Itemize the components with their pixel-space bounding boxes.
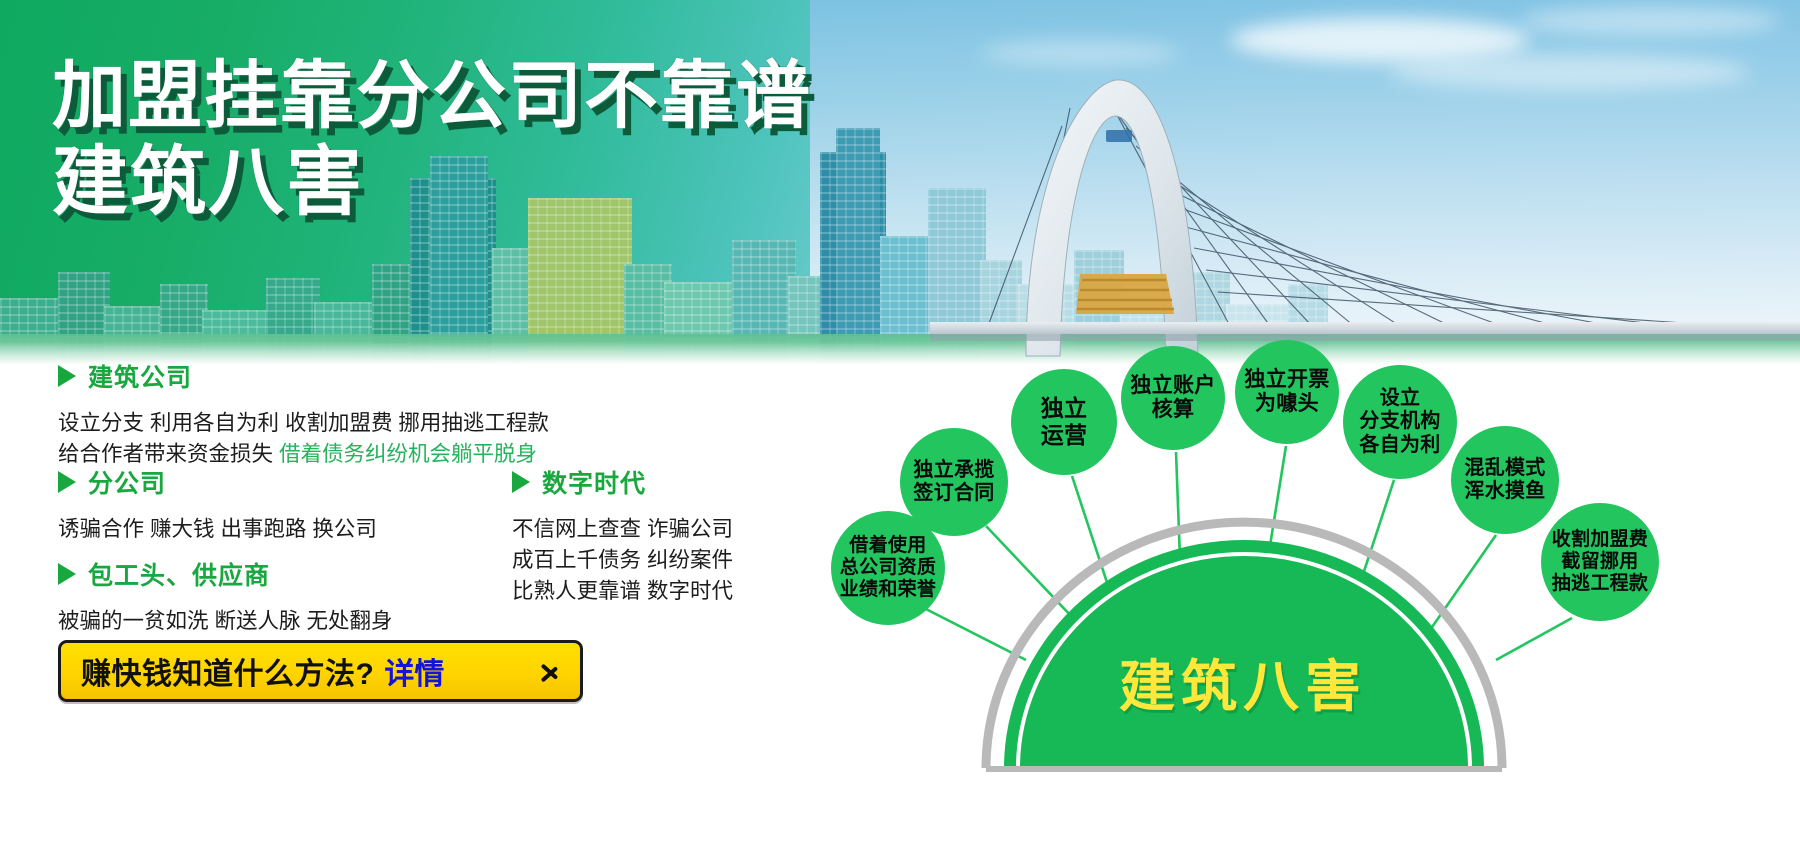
bubble-label: 设立分支机构各自为利: [1359, 387, 1440, 457]
bubble-item[interactable]: 独立运营: [1011, 369, 1117, 475]
section-digital-era: 数字时代 不信网上查查 诈骗公司 成百上千债务 纠纷案件 比熟人更靠谱 数字时代: [512, 464, 733, 608]
bubble-label: 独立账户核算: [1130, 374, 1215, 423]
bubble-item[interactable]: 独立账户核算: [1121, 346, 1225, 450]
bubble-label-line: 核算: [1130, 398, 1215, 422]
bubble-label-line: 独立: [1041, 395, 1088, 422]
bubble-item[interactable]: 混乱模式浑水摸鱼: [1451, 426, 1559, 534]
cta-button[interactable]: 赚快钱知道什么方法? 详情: [58, 640, 583, 702]
bubble-label-line: 独立承揽: [913, 459, 994, 482]
section-line: 不信网上查查 诈骗公司: [512, 514, 733, 545]
cloud-decor: [980, 40, 1180, 66]
bubble-label: 混乱模式浑水摸鱼: [1464, 457, 1545, 503]
bubble-label-line: 运营: [1041, 422, 1088, 449]
bubble-label-line: 分支机构: [1359, 410, 1440, 433]
hero-title: 加盟挂靠分公司不靠谱 建筑八害: [52, 58, 812, 222]
section-header: 建筑公司: [58, 358, 549, 394]
hero-title-line-1: 加盟挂靠分公司不靠谱: [52, 58, 812, 135]
triangle-bullet-icon: [512, 471, 530, 493]
section-line: 成百上千债务 纠纷案件: [512, 545, 733, 576]
cloud-decor: [1520, 6, 1780, 36]
bubble-item[interactable]: 独立开票为噱头: [1235, 340, 1339, 444]
section-title: 建筑公司: [88, 358, 192, 394]
chevron-right-icon: [540, 654, 560, 688]
bubble-label-line: 抽逃工程款: [1552, 573, 1649, 595]
bubble-item[interactable]: 设立分支机构各自为利: [1343, 365, 1457, 479]
section-body: 被骗的一贫如洗 断送人脉 无处翻身: [58, 606, 392, 637]
bubble-label: 独立运营: [1041, 395, 1088, 448]
section-line: 诱骗合作 赚大钱 出事跑路 换公司: [58, 514, 377, 545]
section-construction-company: 建筑公司 设立分支 利用各自为利 收割加盟费 挪用抽逃工程款 给合作者带来资金损…: [58, 358, 549, 470]
section-header: 包工头、供应商: [58, 556, 392, 592]
section-body: 设立分支 利用各自为利 收割加盟费 挪用抽逃工程款 给合作者带来资金损失 借着债…: [58, 408, 549, 470]
triangle-bullet-icon: [58, 471, 76, 493]
bubble-item[interactable]: 收割加盟费截留挪用抽逃工程款: [1541, 503, 1659, 621]
section-header: 分公司: [58, 464, 377, 500]
bubble-item[interactable]: 独立承揽签订合同: [900, 428, 1008, 536]
section-body: 不信网上查查 诈骗公司 成百上千债务 纠纷案件 比熟人更靠谱 数字时代: [512, 514, 733, 608]
left-content-column: 建筑公司 设立分支 利用各自为利 收割加盟费 挪用抽逃工程款 给合作者带来资金损…: [0, 368, 800, 844]
section-branch-company: 分公司 诱骗合作 赚大钱 出事跑路 换公司: [58, 464, 377, 545]
highlight-text: 借着债务纠纷机会躺平脱身: [279, 442, 537, 466]
bubble-label-line: 独立开票: [1244, 368, 1329, 392]
section-title: 包工头、供应商: [88, 556, 270, 592]
section-line: 比熟人更靠谱 数字时代: [512, 576, 733, 607]
bubble-label-line: 为噱头: [1244, 392, 1329, 416]
section-header: 数字时代: [512, 464, 733, 500]
cta-detail-link[interactable]: 详情: [384, 649, 444, 693]
bubble-label: 独立开票为噱头: [1244, 368, 1329, 417]
cta-label: 赚快钱知道什么方法?: [81, 649, 374, 693]
bubble-label-line: 签订合同: [913, 482, 994, 505]
section-title: 分公司: [88, 464, 166, 500]
section-title: 数字时代: [542, 464, 646, 500]
triangle-bullet-icon: [58, 365, 76, 387]
section-line: 设立分支 利用各自为利 收割加盟费 挪用抽逃工程款: [58, 408, 549, 439]
hero-banner: 加盟挂靠分公司不靠谱 建筑八害: [0, 0, 1800, 368]
triangle-bullet-icon: [58, 563, 76, 585]
poster-root: 加盟挂靠分公司不靠谱 建筑八害 建筑公司 设立分支 利用各自为利 收割加盟费 挪…: [0, 0, 1800, 844]
bubble-label-line: 借着使用: [840, 535, 937, 557]
bubble-label-line: 设立: [1359, 387, 1440, 410]
bridge-illustration: [930, 68, 1800, 368]
bubble-label-line: 混乱模式: [1464, 457, 1545, 480]
bubble-label-line: 浑水摸鱼: [1464, 480, 1545, 503]
dome-diagram: 建筑八害 借着使用总公司资质业绩和荣誉 独立承揽签订合同 独立运营 独立账户核算…: [790, 330, 1800, 844]
section-body: 诱骗合作 赚大钱 出事跑路 换公司: [58, 514, 377, 545]
bubble-label-line: 总公司资质: [840, 557, 937, 579]
hero-title-line-2: 建筑八害: [52, 143, 812, 222]
bubble-label-line: 独立账户: [1130, 374, 1215, 398]
bubble-label-line: 业绩和荣誉: [840, 579, 937, 601]
bubble-label-line: 截留挪用: [1552, 551, 1649, 573]
section-line: 被骗的一贫如洗 断送人脉 无处翻身: [58, 606, 392, 637]
bubble-label-line: 各自为利: [1359, 434, 1440, 457]
bubble-label-line: 收割加盟费: [1552, 529, 1649, 551]
bubble-label: 收割加盟费截留挪用抽逃工程款: [1552, 529, 1649, 595]
bubble-label: 独立承揽签订合同: [913, 459, 994, 505]
section-contractor-supplier: 包工头、供应商 被骗的一贫如洗 断送人脉 无处翻身: [58, 556, 392, 637]
dome-title: 建筑八害: [1000, 642, 1486, 723]
bubble-label: 借着使用总公司资质业绩和荣誉: [840, 535, 937, 601]
